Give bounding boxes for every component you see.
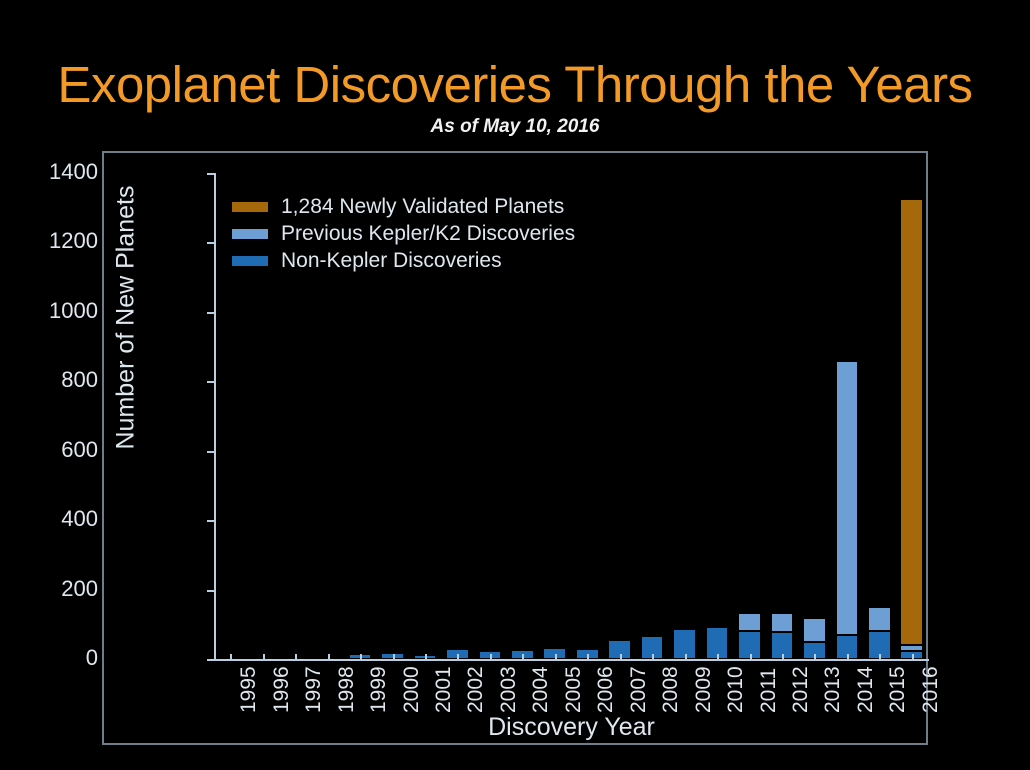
y-tick-label: 600: [61, 439, 98, 461]
bar-column: [868, 173, 891, 659]
x-tick-mark: [360, 654, 362, 661]
x-tick-label: 1996: [271, 666, 292, 713]
x-tick-mark: [750, 654, 752, 661]
bar-segment: [868, 607, 891, 631]
bar-segment: [543, 646, 566, 648]
y-tick-label: 800: [61, 369, 98, 391]
x-tick-mark: [912, 654, 914, 661]
x-axis-label: Discovery Year: [214, 713, 929, 742]
x-tick-label: 2014: [855, 666, 876, 713]
legend-item[interactable]: Previous Kepler/K2 Discoveries: [232, 220, 652, 247]
legend-swatch-icon: [232, 256, 268, 266]
page-title: Exoplanet Discoveries Through the Years: [0, 56, 1030, 114]
slide-canvas: Exoplanet Discoveries Through the Years …: [0, 0, 1030, 770]
x-tick-mark: [847, 654, 849, 661]
legend-swatch-icon: [232, 229, 268, 239]
y-tick-label: 200: [61, 578, 98, 600]
y-tick-label: 400: [61, 508, 98, 530]
bar-column: [900, 173, 923, 659]
x-tick-label: 2008: [660, 666, 681, 713]
y-tick-label: 1400: [49, 161, 98, 183]
chart-legend: 1,284 Newly Validated PlanetsPrevious Ke…: [232, 193, 652, 274]
bar-segment: [900, 645, 923, 651]
bar-segment: [738, 613, 761, 631]
legend-swatch-icon: [232, 202, 268, 212]
x-tick-mark: [814, 654, 816, 661]
bar-segment: [900, 199, 923, 645]
page-subtitle: As of May 10, 2016: [0, 116, 1030, 138]
y-tick-label: 1000: [49, 300, 98, 322]
x-tick-mark: [620, 654, 622, 661]
legend-label: Previous Kepler/K2 Discoveries: [281, 223, 575, 244]
x-tick-label: 2007: [628, 666, 649, 713]
x-tick-mark: [457, 654, 459, 661]
bar-segment: [771, 613, 794, 633]
bar-column: [673, 173, 696, 659]
x-tick-label: 2006: [595, 666, 616, 713]
bar-column: [836, 173, 859, 659]
x-tick-label: 2004: [530, 666, 551, 713]
x-tick-label: 2013: [822, 666, 843, 713]
chart-figure: Number of New Planets 020040060080010001…: [102, 151, 928, 745]
x-tick-mark: [555, 654, 557, 661]
x-tick-label: 1999: [368, 666, 389, 713]
x-tick-mark: [425, 654, 427, 661]
x-tick-mark: [230, 654, 232, 661]
x-tick-label: 2003: [498, 666, 519, 713]
x-tick-label: 2009: [693, 666, 714, 713]
x-tick-label: 2016: [920, 666, 941, 713]
x-tick-label: 2005: [563, 666, 584, 713]
x-tick-mark: [522, 654, 524, 661]
x-tick-mark: [782, 654, 784, 661]
x-axis-line: [214, 659, 929, 661]
x-tick-label: 2012: [790, 666, 811, 713]
y-tick-label: 0: [86, 647, 98, 669]
legend-label: Non-Kepler Discoveries: [281, 250, 502, 271]
x-tick-label: 1995: [238, 666, 259, 713]
x-tick-label: 2000: [401, 666, 422, 713]
x-tick-mark: [295, 654, 297, 661]
x-tick-mark: [587, 654, 589, 661]
x-tick-label: 1998: [336, 666, 357, 713]
bar-column: [706, 173, 729, 659]
y-tick-label: 1200: [49, 230, 98, 252]
x-tick-mark: [652, 654, 654, 661]
bar-column: [771, 173, 794, 659]
bar-column: [803, 173, 826, 659]
x-tick-label: 2002: [465, 666, 486, 713]
x-tick-mark: [717, 654, 719, 661]
x-tick-mark: [328, 654, 330, 661]
legend-label: 1,284 Newly Validated Planets: [281, 196, 564, 217]
x-tick-mark: [263, 654, 265, 661]
x-tick-label: 2011: [758, 668, 779, 713]
y-axis-label: Number of New Planets: [112, 128, 141, 508]
legend-item[interactable]: Non-Kepler Discoveries: [232, 247, 652, 274]
bar-column: [738, 173, 761, 659]
x-tick-mark: [879, 654, 881, 661]
x-tick-label: 2015: [887, 666, 908, 713]
bar-segment: [803, 618, 826, 643]
bar-segment: [836, 361, 859, 635]
x-tick-label: 1997: [303, 666, 324, 713]
legend-item[interactable]: 1,284 Newly Validated Planets: [232, 193, 652, 220]
x-tick-mark: [393, 654, 395, 661]
x-tick-mark: [490, 654, 492, 661]
x-tick-label: 2001: [433, 666, 454, 713]
bar-segment: [706, 625, 729, 627]
x-tick-label: 2010: [725, 666, 746, 713]
x-tick-mark: [685, 654, 687, 661]
